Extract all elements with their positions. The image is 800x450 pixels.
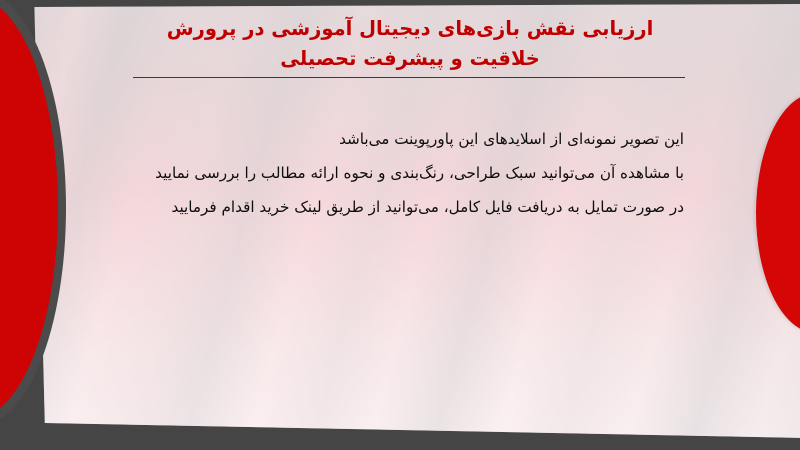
title-divider-rule bbox=[133, 77, 685, 78]
slide-canvas: ارزیابی نقش بازی‌های دیجیتال آموزشی در پ… bbox=[0, 0, 800, 450]
slide-body-line-3: در صورت تمایل به دریافت فایل کامل، می‌تو… bbox=[124, 190, 684, 224]
slide-body-line-1: این تصویر نمونه‌ای از اسلایدهای این پاور… bbox=[124, 122, 684, 156]
slide-body-text: این تصویر نمونه‌ای از اسلایدهای این پاور… bbox=[124, 122, 684, 224]
slide-title: ارزیابی نقش بازی‌های دیجیتال آموزشی در پ… bbox=[100, 14, 720, 74]
slide-title-line-1: ارزیابی نقش بازی‌های دیجیتال آموزشی در پ… bbox=[100, 14, 720, 44]
slide-body-line-2: با مشاهده آن می‌توانید سبک طراحی، رنگ‌بن… bbox=[124, 156, 684, 190]
slide-title-line-2: خلاقیت و پیشرفت تحصیلی bbox=[100, 44, 720, 74]
